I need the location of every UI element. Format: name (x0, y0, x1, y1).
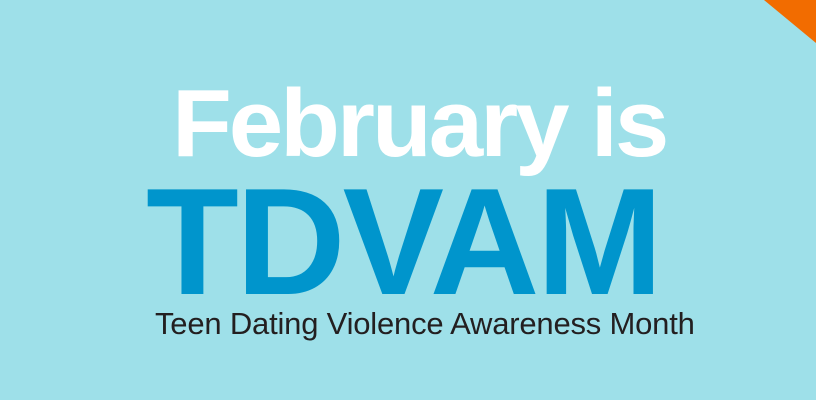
headline-tdvam-acronym: TDVAM (146, 166, 660, 318)
tdvam-awareness-poster: February is TDVAM Teen Dating Violence A… (0, 0, 816, 400)
poster-text-block: February is TDVAM Teen Dating Violence A… (0, 0, 816, 400)
subheading-full-name: Teen Dating Violence Awareness Month (155, 307, 695, 341)
